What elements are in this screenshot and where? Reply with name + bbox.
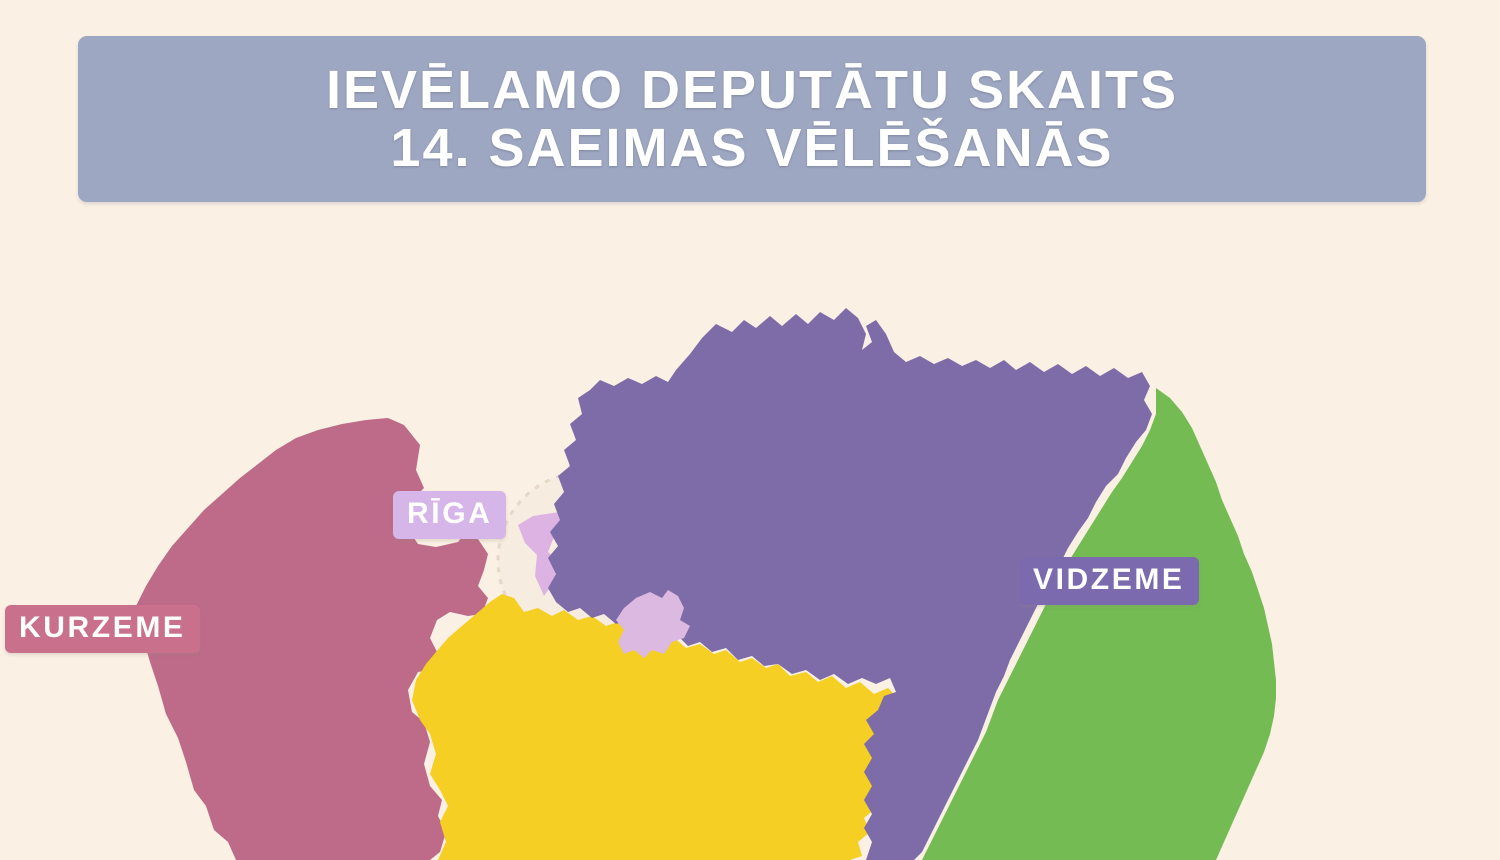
page-title-line-2: 14. SAEIMAS VĒLĒŠANĀS	[390, 119, 1113, 177]
page-title-banner: IEVĒLAMO DEPUTĀTU SKAITS 14. SAEIMAS VĒL…	[78, 36, 1426, 202]
page-title-line-1: IEVĒLAMO DEPUTĀTU SKAITS	[326, 61, 1178, 119]
region-label-kurzeme[interactable]: KURZEME	[5, 605, 200, 653]
latvia-map: KURZEME RĪGA VIDZEME	[0, 202, 1500, 860]
region-label-riga[interactable]: RĪGA	[393, 491, 506, 539]
region-label-vidzeme[interactable]: VIDZEME	[1019, 557, 1199, 605]
latvia-map-svg	[0, 202, 1500, 860]
